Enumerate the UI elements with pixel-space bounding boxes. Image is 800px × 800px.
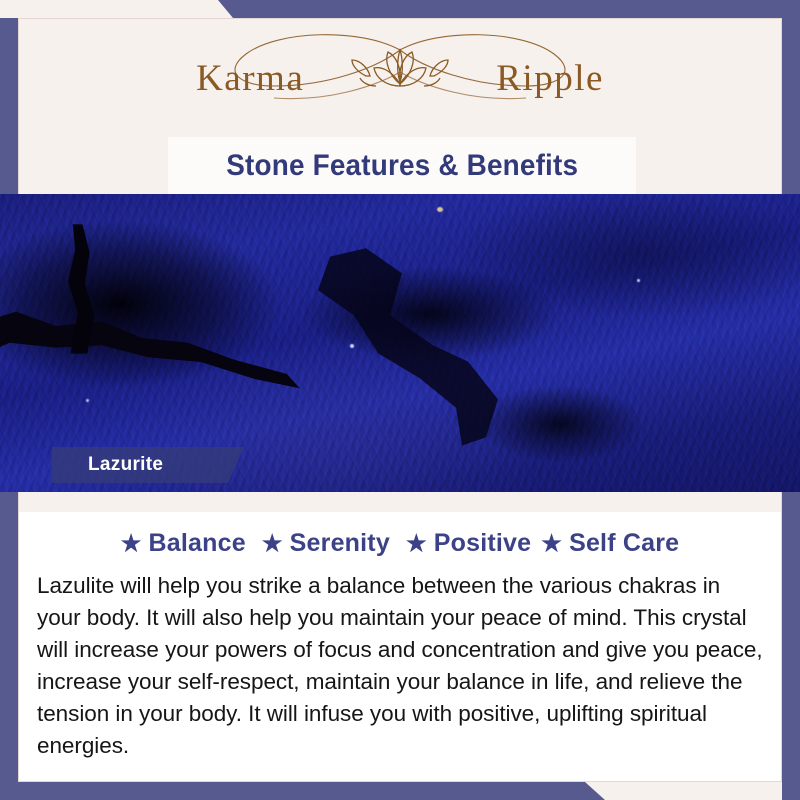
star-icon: ★ xyxy=(262,530,283,556)
star-icon: ★ xyxy=(541,530,562,556)
stone-benefits-card: KarmaRipple Stone Features & Benefits La… xyxy=(0,0,800,800)
content-panel: ★Balance★Serenity★Positive★Self Care Laz… xyxy=(19,512,781,781)
brand-name: KarmaRipple xyxy=(0,60,800,97)
stone-name-label: Lazurite xyxy=(88,454,163,476)
stone-name-banner: Lazurite xyxy=(52,447,244,483)
stone-speck xyxy=(437,207,443,212)
star-icon: ★ xyxy=(406,530,427,556)
brand-name-first: Karma xyxy=(196,58,304,99)
stone-speck xyxy=(86,399,89,402)
stone-description: Lazulite will help you strike a balance … xyxy=(37,570,763,762)
frame-accent-top xyxy=(0,0,800,18)
stone-speck xyxy=(637,279,640,282)
benefit-label: Balance xyxy=(149,529,246,557)
title-card: Stone Features & Benefits xyxy=(168,137,636,194)
benefits-list: ★Balance★Serenity★Positive★Self Care xyxy=(19,512,781,558)
frame-accent-bottom xyxy=(0,782,800,800)
page-title: Stone Features & Benefits xyxy=(226,149,578,183)
benefit-label: Self Care xyxy=(569,529,679,557)
brand-logo: KarmaRipple xyxy=(0,24,800,116)
stone-speck xyxy=(350,344,354,348)
benefit-label: Positive xyxy=(434,529,531,557)
benefit-label: Serenity xyxy=(290,529,390,557)
brand-name-second: Ripple xyxy=(496,58,604,99)
star-icon: ★ xyxy=(121,530,142,556)
